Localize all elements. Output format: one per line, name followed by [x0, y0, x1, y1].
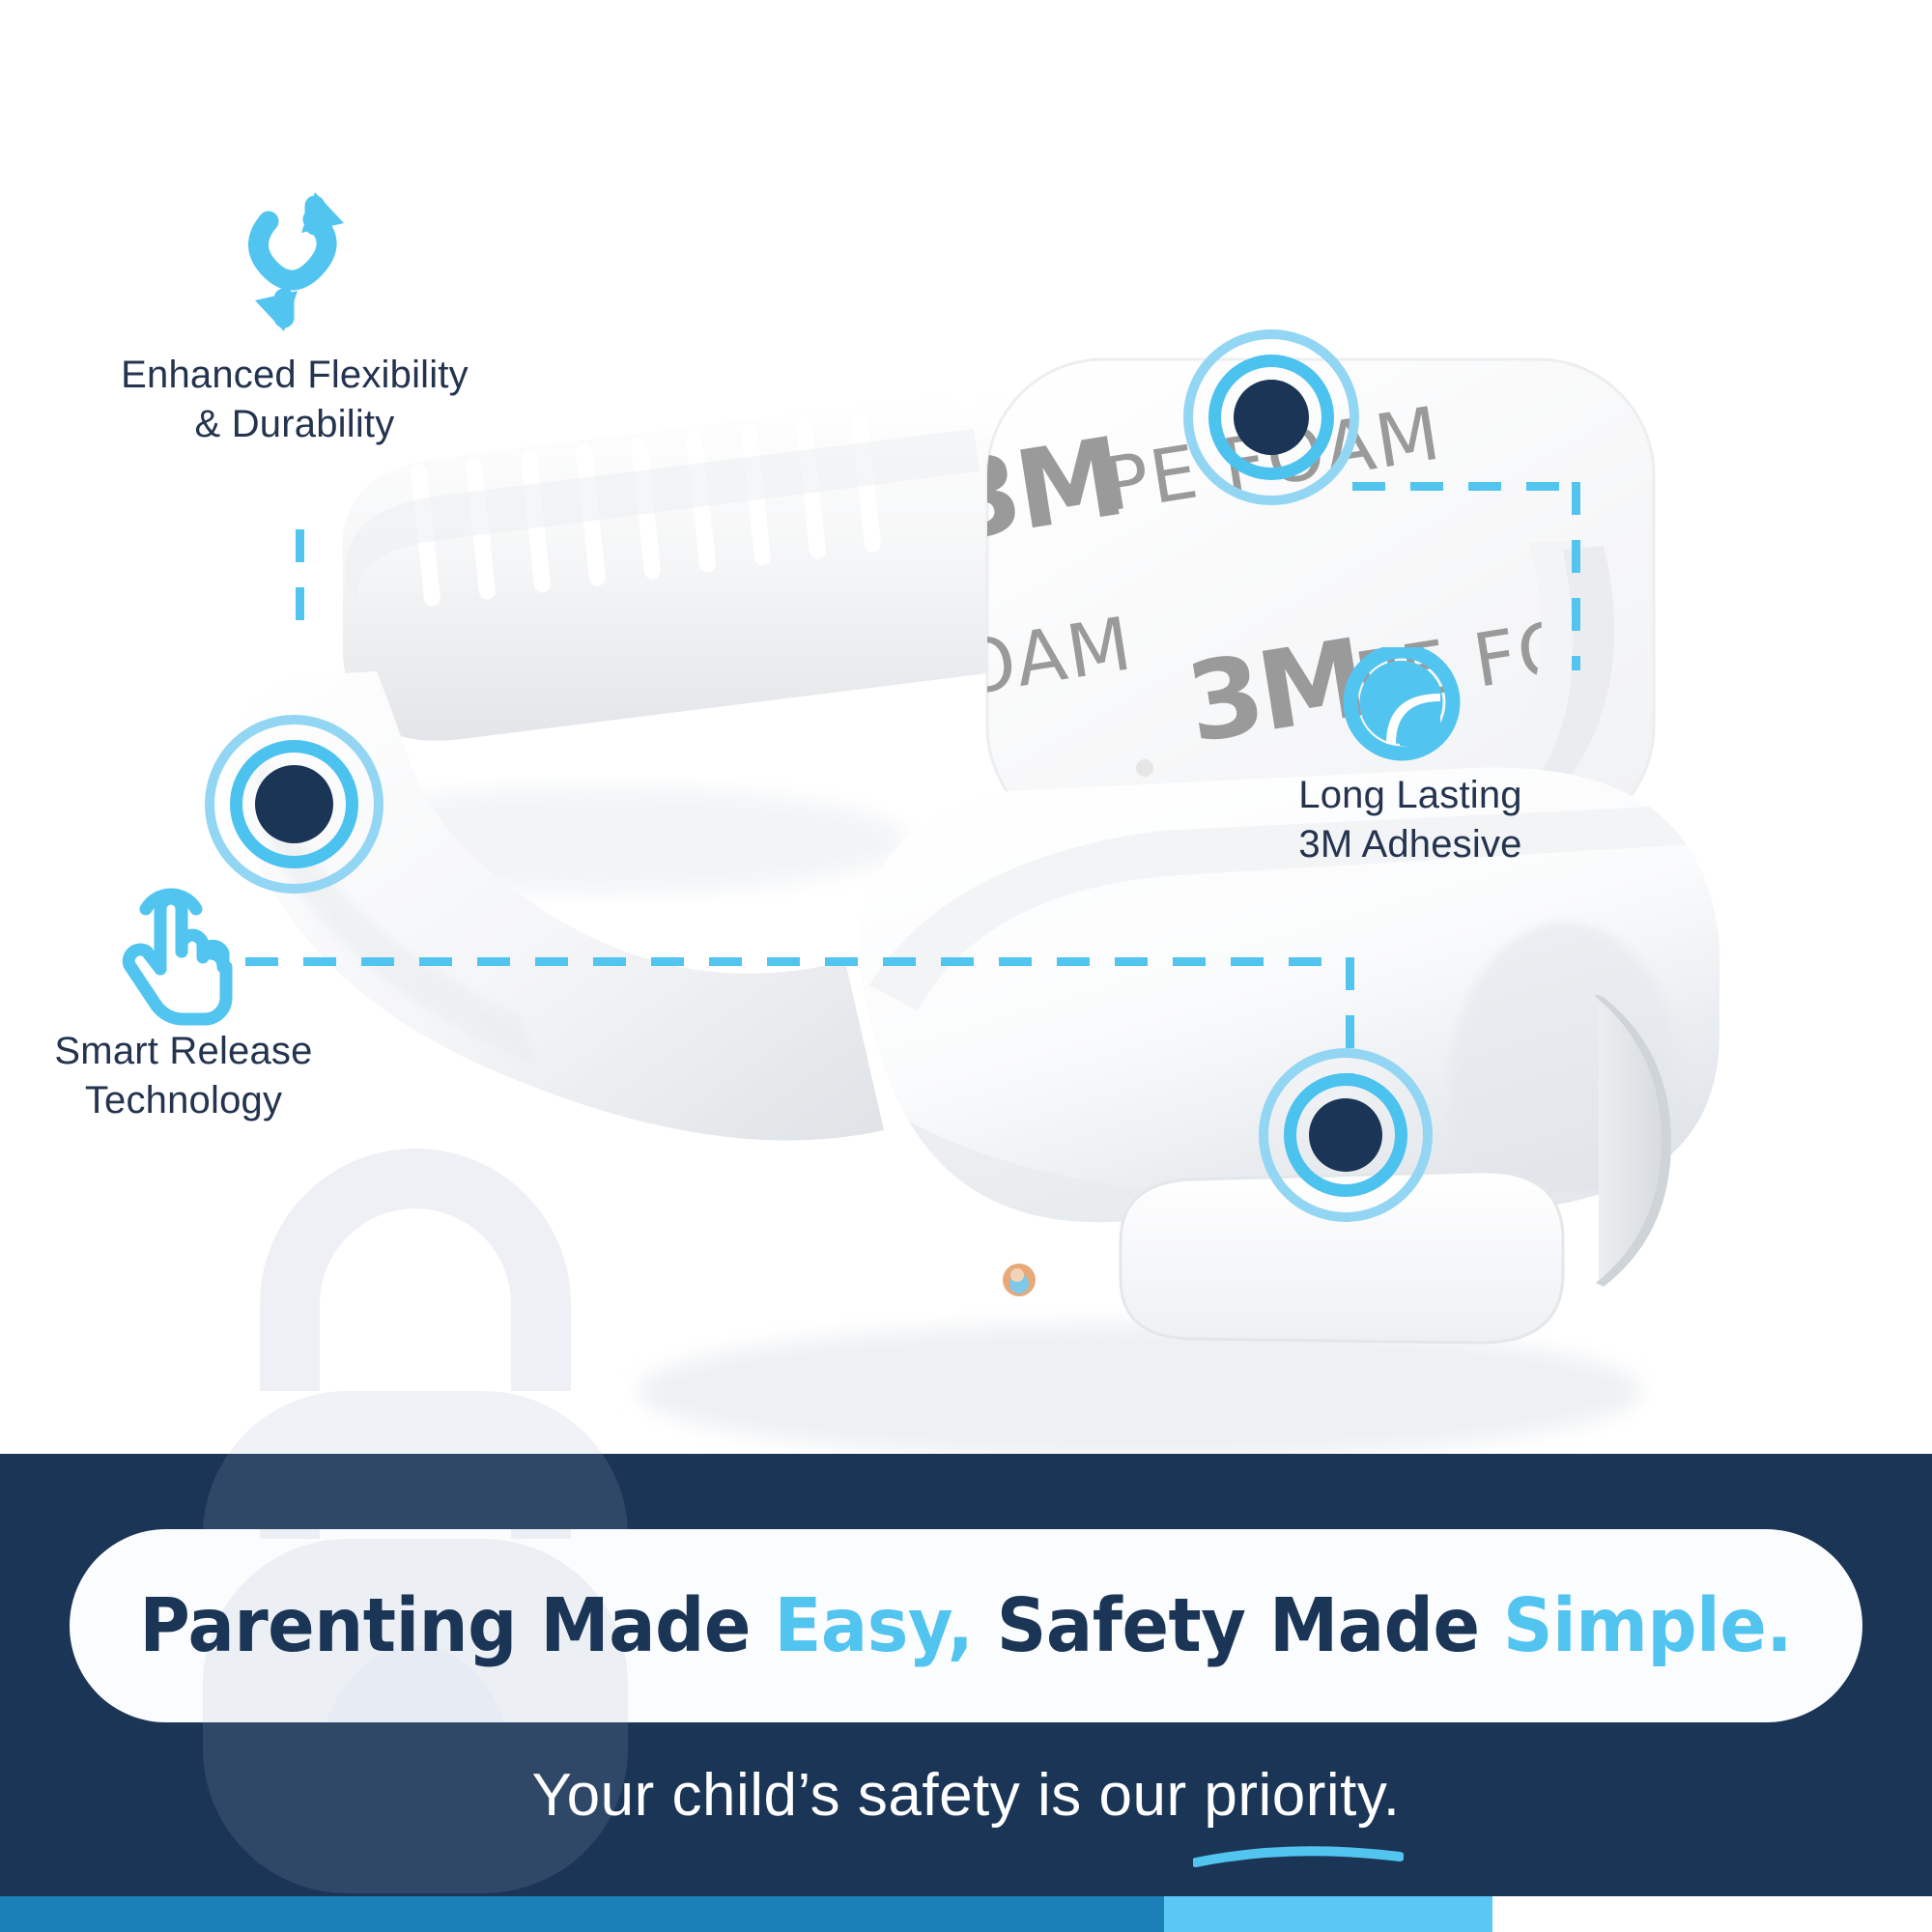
feature-release: Smart Release Technology [29, 874, 338, 1125]
strip-segment-3 [1492, 1896, 1932, 1932]
marker-core [1309, 1098, 1382, 1172]
bottom-banner: Parenting Made Easy, Safety Made Simple.… [0, 1454, 1932, 1896]
headline-part-1: Parenting Made [140, 1583, 775, 1669]
subline: Your child’s safety is our priority. [0, 1761, 1932, 1830]
peel-sticker-icon [1336, 647, 1481, 763]
headline-part-3: Safety Made [974, 1583, 1504, 1669]
marker-release[interactable] [1259, 1048, 1433, 1222]
marker-core [255, 765, 333, 843]
headline-part-4: Simple. [1503, 1583, 1792, 1669]
subline-underline-icon [1193, 1845, 1404, 1870]
connector-flexibility [296, 529, 304, 636]
feature-flexibility-label: Enhanced Flexibility & Durability [106, 351, 483, 449]
product-feature-graphic: 3M PE FOAM OAM 3M PE FO OAM [0, 0, 1932, 1932]
marker-flexibility[interactable] [205, 715, 384, 894]
strip-segment-1 [0, 1896, 1164, 1932]
connector-adhesive-vertical [1572, 482, 1580, 670]
connector-release-horizontal [245, 957, 1354, 966]
feature-adhesive-label: Long Lasting 3M Adhesive [1251, 771, 1570, 869]
connector-adhesive-horizontal [1352, 482, 1580, 491]
bottom-color-strip [0, 1896, 1932, 1932]
marker-core [1234, 380, 1309, 455]
tap-hand-icon [106, 874, 251, 1029]
feature-adhesive: Long Lasting 3M Adhesive [1251, 647, 1570, 869]
feature-flexibility: Enhanced Flexibility & Durability [106, 179, 483, 449]
headline: Parenting Made Easy, Safety Made Simple. [140, 1583, 1793, 1669]
strip-segment-2 [1164, 1896, 1492, 1932]
marker-adhesive[interactable] [1183, 329, 1359, 505]
headline-part-2: Easy, [775, 1583, 974, 1669]
headline-pill: Parenting Made Easy, Safety Made Simple. [70, 1529, 1862, 1722]
flexible-arrows-icon [232, 179, 367, 343]
